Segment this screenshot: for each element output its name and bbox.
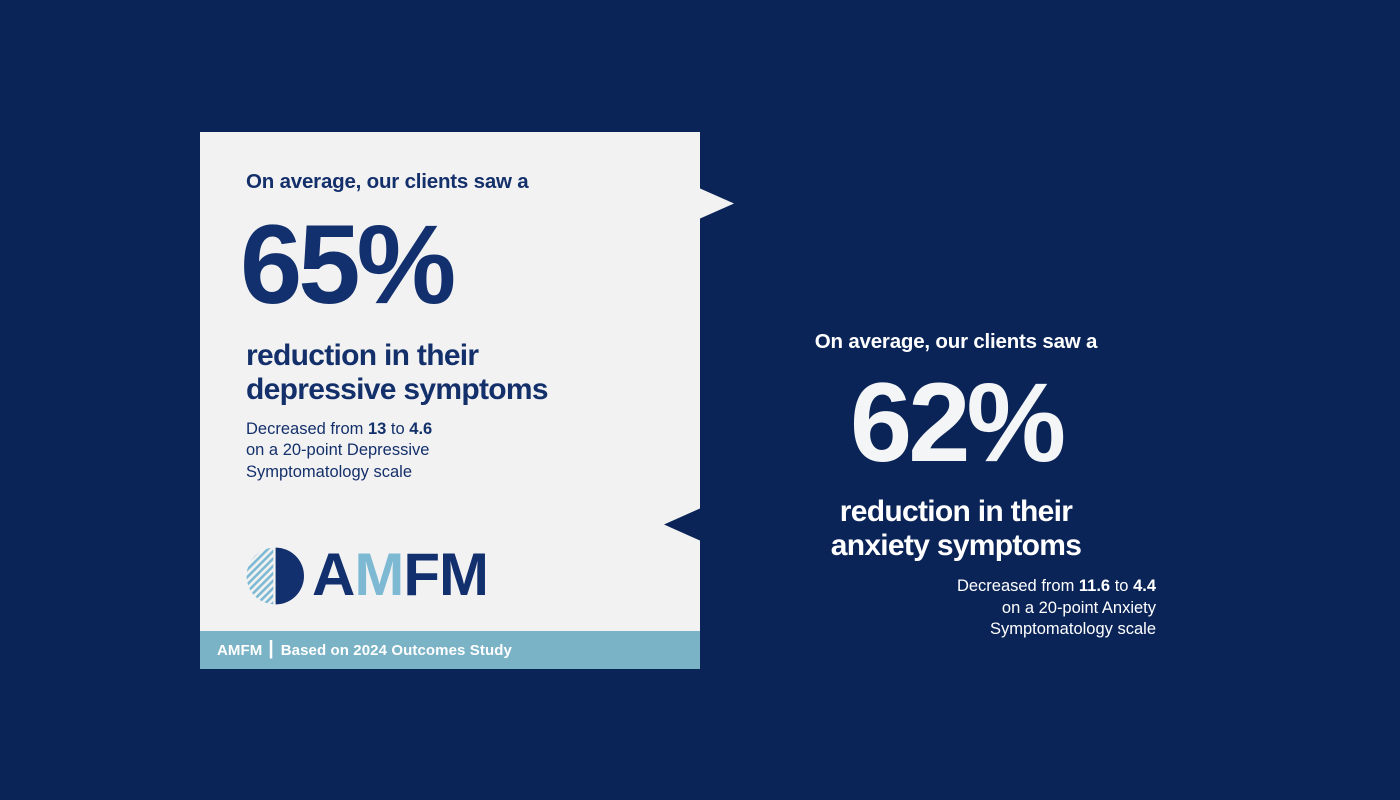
right-caption-prefix: Decreased from [957,577,1079,595]
caption-prefix: Decreased from [246,420,368,438]
infographic-canvas: On average, our clients saw a 65% reduct… [0,0,1400,800]
bubble-tail-top-icon [699,188,734,219]
right-caption-discharge-score: 4.4 [1133,577,1156,595]
caption-middle: to [386,420,409,438]
wordmark-letter-a: A [312,541,354,608]
right-subheadline-line2: anxiety symptoms [756,529,1156,564]
amfm-logo: AMFM [246,546,488,606]
card-kicker-text: On average, our clients saw a [246,170,654,195]
card-content: On average, our clients saw a 65% reduct… [200,132,700,631]
wordmark-letter-m1: M [354,541,403,608]
anxiety-reduction-percent: 62% [756,367,1156,479]
right-subheadline-line1: reduction in their [756,495,1156,530]
anxiety-caption: Decreased from 11.6 to 4.4 on a 20-point… [756,576,1156,640]
right-caption-middle: to [1110,577,1133,595]
wordmark-letter-f: F [403,541,439,608]
footer-divider: | [268,638,273,660]
wordmark-letter-m2: M [439,541,488,608]
footer-source-text: Based on 2024 Outcomes Study [281,642,512,659]
caption-scale-line1: on a 20-point Depressive [246,441,429,459]
anxiety-symptoms-block: On average, our clients saw a 62% reduct… [756,330,1156,641]
right-kicker-text: On average, our clients saw a [756,330,1156,355]
card-subheadline-line2: depressive symptoms [246,373,654,407]
right-caption-scale-line1: on a 20-point Anxiety [1002,599,1156,617]
card-footer-bar: AMFM | Based on 2024 Outcomes Study [200,631,700,669]
card-subheadline: reduction in their depressive symptoms [246,339,654,407]
amfm-circle-mark [246,547,304,605]
card-subheadline-line1: reduction in their [246,339,654,373]
right-caption-scale-line2: Symptomatology scale [990,620,1156,638]
bubble-tail-bottom-icon [664,508,701,541]
depressive-reduction-percent: 65% [240,209,654,321]
footer-brand-label: AMFM [217,642,262,659]
caption-intake-score: 13 [368,420,386,438]
depressive-caption: Decreased from 13 to 4.6 on a 20-point D… [246,419,654,483]
caption-scale-line2: Symptomatology scale [246,463,412,481]
depressive-symptoms-card: On average, our clients saw a 65% reduct… [200,132,700,669]
right-caption-intake-score: 11.6 [1079,577,1110,595]
right-subheadline: reduction in their anxiety symptoms [756,495,1156,565]
caption-discharge-score: 4.6 [409,420,432,438]
amfm-wordmark: AMFM [312,545,488,605]
